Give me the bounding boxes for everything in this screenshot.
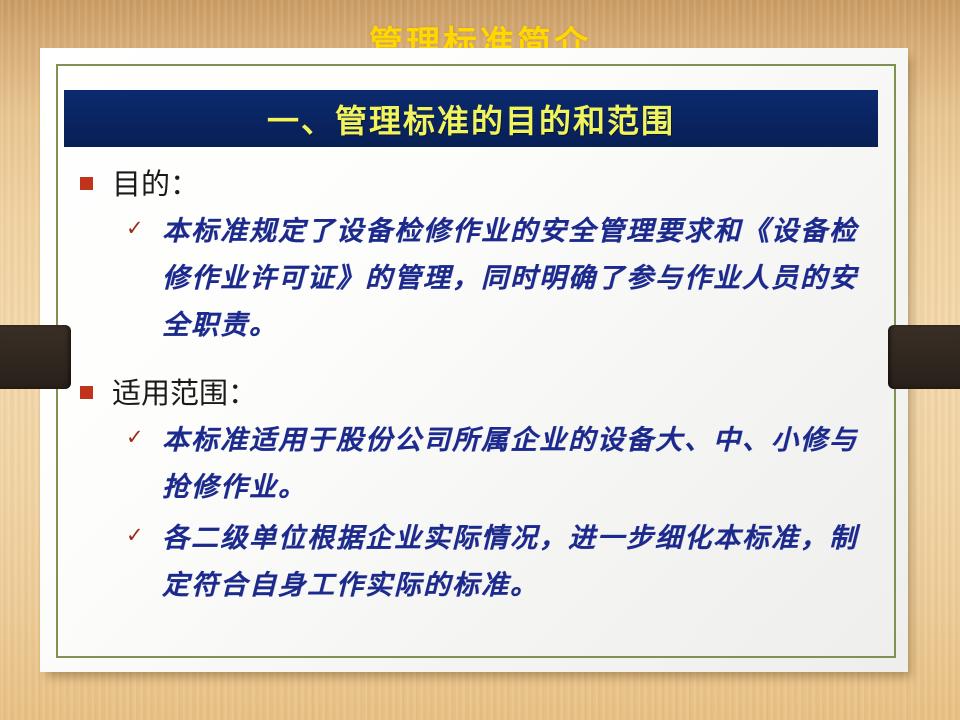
presentation-slide: 管理标准简介 一、管理标准的目的和范围 目的： ✓ 本标准规定了设备检修作业的安… [0, 0, 960, 720]
section-header-text: 一、管理标准的目的和范围 [267, 96, 675, 142]
list-item-text: 本标准规定了设备检修作业的安全管理要求和《设备检修作业许可证》的管理，同时明确了… [162, 208, 882, 349]
section-purpose: 目的： ✓ 本标准规定了设备检修作业的安全管理要求和《设备检修作业许可证》的管理… [80, 164, 884, 349]
section-header-band: 一、管理标准的目的和范围 [64, 90, 878, 147]
list-item-text: 各二级单位根据企业实际情况，进一步细化本标准，制定符合自身工作实际的标准。 [162, 515, 882, 609]
square-bullet-icon [80, 386, 93, 399]
check-icon: ✓ [126, 427, 146, 448]
check-icon: ✓ [126, 525, 146, 546]
content-card: 一、管理标准的目的和范围 目的： ✓ 本标准规定了设备检修作业的安全管理要求和《… [40, 48, 908, 672]
square-bullet-icon [80, 177, 93, 190]
section-heading-row: 目的： [80, 164, 884, 204]
section-heading-label: 适用范围： [112, 373, 257, 413]
list-item: ✓ 本标准适用于股份公司所属企业的设备大、中、小修与抢修作业。 [126, 417, 884, 511]
section-heading-row: 适用范围： [80, 373, 884, 413]
slide-body: 目的： ✓ 本标准规定了设备检修作业的安全管理要求和《设备检修作业许可证》的管理… [80, 164, 884, 652]
decorative-tab-left [0, 325, 71, 389]
section-spacer [80, 353, 884, 373]
section-scope: 适用范围： ✓ 本标准适用于股份公司所属企业的设备大、中、小修与抢修作业。 ✓ … [80, 373, 884, 609]
list-item-text: 本标准适用于股份公司所属企业的设备大、中、小修与抢修作业。 [162, 417, 882, 511]
list-item: ✓ 本标准规定了设备检修作业的安全管理要求和《设备检修作业许可证》的管理，同时明… [126, 208, 884, 349]
list-item: ✓ 各二级单位根据企业实际情况，进一步细化本标准，制定符合自身工作实际的标准。 [126, 515, 884, 609]
section-heading-label: 目的： [112, 164, 199, 204]
check-icon: ✓ [126, 218, 146, 239]
decorative-tab-right [888, 325, 960, 389]
